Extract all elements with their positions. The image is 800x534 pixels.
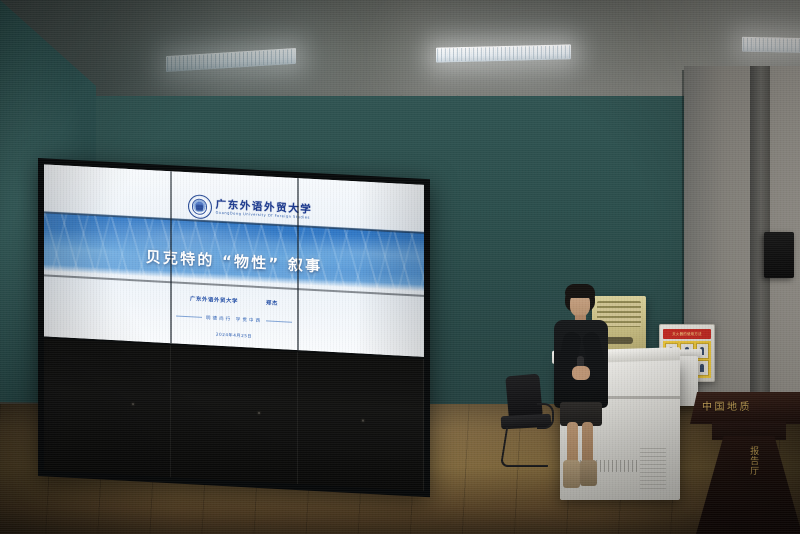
video-wall[interactable]: 广东外语外贸大学 GuangDong University Of Foreign… <box>38 158 430 497</box>
cabinet-door-2[interactable] <box>171 345 298 484</box>
presenter-left-leg <box>567 422 578 464</box>
storage-cabinet[interactable] <box>44 338 424 491</box>
slide-presenter-name: 郑杰 <box>266 298 278 307</box>
presenter-left-boot <box>563 460 580 488</box>
gdufs-seal-logo-icon <box>188 194 212 219</box>
presenter-hands <box>572 366 590 380</box>
presenter-skirt <box>560 402 602 426</box>
wooden-podium: 中国地质 报告厅 <box>690 392 800 534</box>
presenter <box>544 284 616 496</box>
lecture-hall-photo: 广东外语外贸大学 GuangDong University Of Foreign… <box>0 0 800 534</box>
podium-vertical-text: 报告厅 <box>745 446 761 476</box>
motto-rule-left <box>176 315 202 317</box>
motto-rule-right <box>266 320 292 322</box>
video-wall-seam-v2 <box>297 178 299 350</box>
slide-motto-text: 明德尚行 学贯中西 <box>206 316 262 324</box>
podium-header-text: 中国地质 <box>702 398 752 413</box>
slide-affiliation: 广东外语外贸大学 <box>190 294 238 305</box>
presenter-right-boot <box>580 460 597 486</box>
presenter-fringe <box>565 284 595 298</box>
presentation-slide: 广东外语外贸大学 GuangDong University Of Foreign… <box>44 164 424 357</box>
video-wall-screen[interactable]: 广东外语外贸大学 GuangDong University Of Foreign… <box>44 164 424 357</box>
pa-speaker <box>764 232 794 278</box>
video-wall-seam-v1 <box>170 171 172 343</box>
poster-title: 灭火器的使用方法 <box>663 329 711 339</box>
cabinet-door-3[interactable] <box>298 352 424 491</box>
presenter-right-leg <box>582 422 593 464</box>
lectern-side-panel <box>640 448 666 490</box>
cabinet-door-1[interactable] <box>44 338 171 477</box>
